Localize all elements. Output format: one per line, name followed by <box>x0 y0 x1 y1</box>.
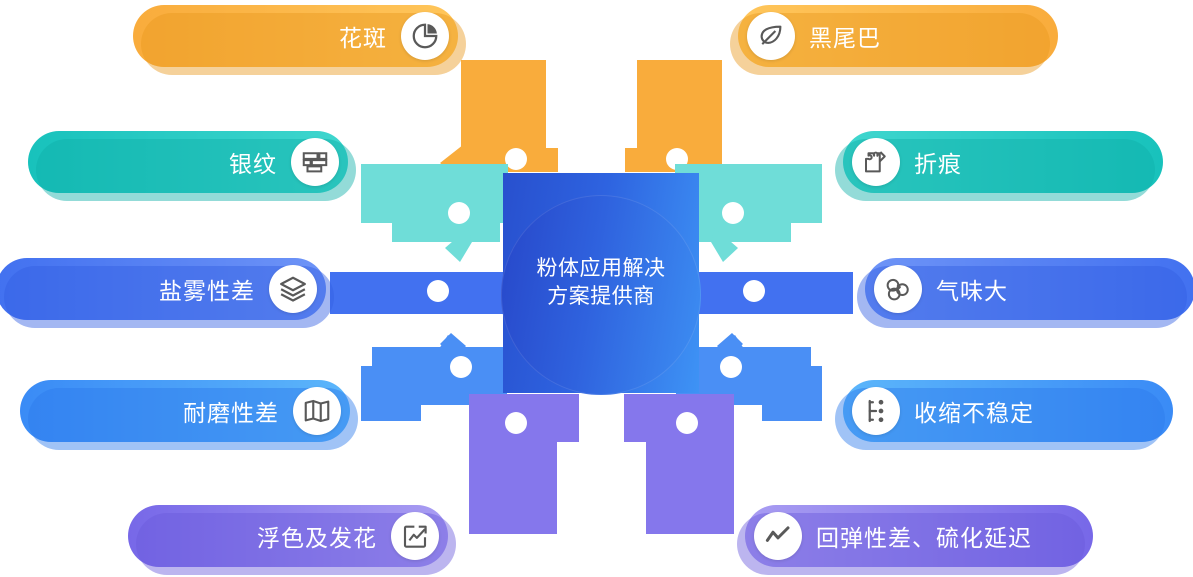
brick-wall-icon <box>291 138 339 186</box>
node-left-5[interactable]: 浮色及发花 <box>128 505 448 567</box>
node-left-3[interactable]: 盐雾性差 <box>0 258 326 320</box>
node-right-4-label: 收缩不稳定 <box>914 394 1034 428</box>
node-left-3-label: 盐雾性差 <box>159 272 255 306</box>
node-right-2[interactable]: 折痕 <box>843 131 1163 193</box>
sitemap-icon <box>852 387 900 435</box>
line-chart-icon <box>754 512 802 560</box>
leaf-icon <box>747 12 795 60</box>
node-right-1-label: 黑尾巴 <box>809 19 881 53</box>
node-left-1[interactable]: 花斑 <box>133 5 458 67</box>
hub-title: 粉体应用解决 方案提供商 <box>503 173 699 393</box>
layers-icon <box>269 265 317 313</box>
node-right-3-label: 气味大 <box>936 272 1008 306</box>
center-hub[interactable]: 粉体应用解决 方案提供商 <box>503 173 699 393</box>
node-right-3[interactable]: 气味大 <box>865 258 1193 320</box>
connector-left-5 <box>469 394 579 534</box>
node-left-2-label: 银纹 <box>229 145 277 179</box>
recycle-icon <box>874 265 922 313</box>
node-left-4[interactable]: 耐磨性差 <box>20 380 350 442</box>
map-book-icon <box>293 387 341 435</box>
connector-left-3 <box>330 272 510 314</box>
pie-chart-icon <box>401 12 449 60</box>
node-right-4[interactable]: 收缩不稳定 <box>843 380 1173 442</box>
puzzle-icon <box>852 138 900 186</box>
trend-up-icon <box>391 512 439 560</box>
node-left-2[interactable]: 银纹 <box>28 131 348 193</box>
node-left-1-label: 花斑 <box>339 19 387 53</box>
infographic-canvas: 粉体应用解决 方案提供商 花斑 银纹 盐雾性差 <box>0 0 1193 577</box>
node-right-5-label: 回弹性差、硫化延迟 <box>816 519 1032 553</box>
node-left-4-label: 耐磨性差 <box>183 394 279 428</box>
node-right-5[interactable]: 回弹性差、硫化延迟 <box>745 505 1093 567</box>
node-left-5-label: 浮色及发花 <box>257 519 377 553</box>
connector-right-5 <box>624 394 734 534</box>
node-right-2-label: 折痕 <box>914 145 962 179</box>
connector-left-2 <box>361 164 508 262</box>
node-right-1[interactable]: 黑尾巴 <box>738 5 1058 67</box>
